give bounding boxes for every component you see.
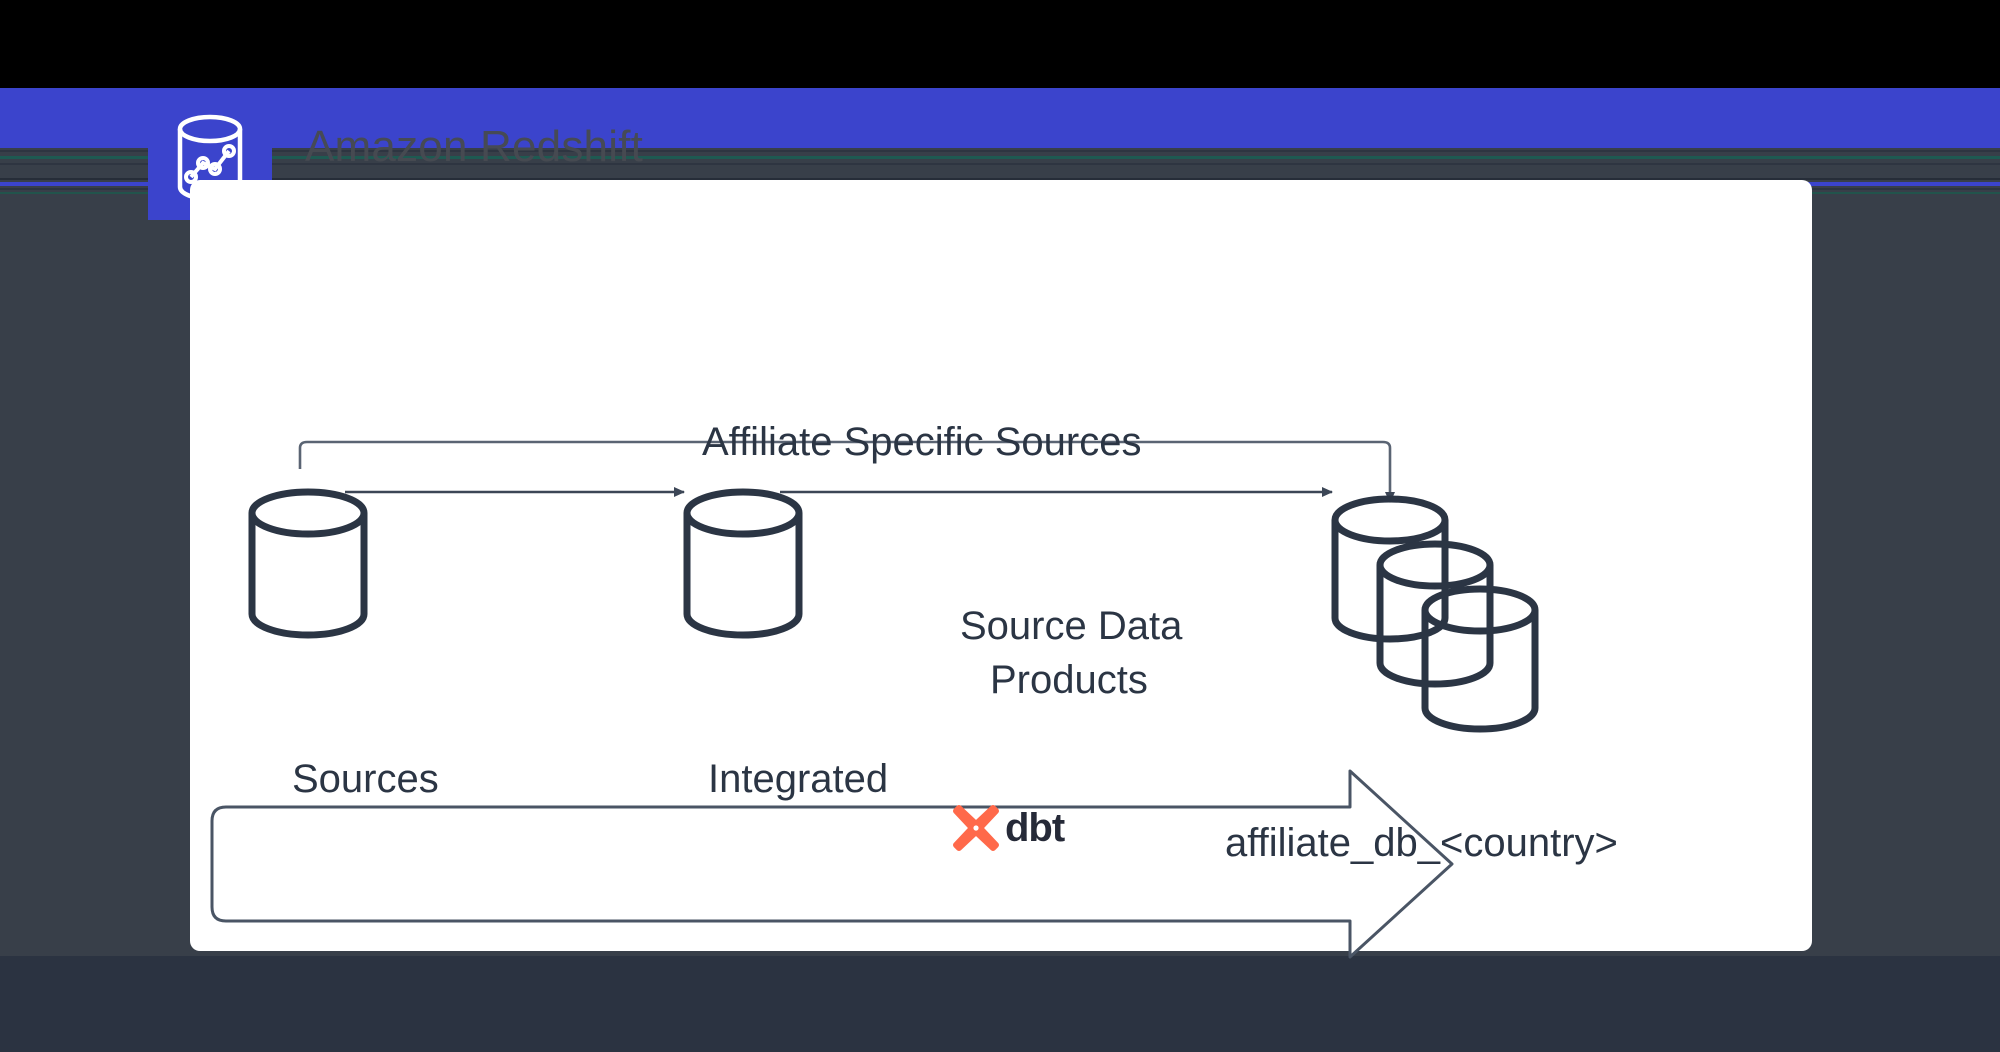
node-stacked-cylinders-affiliate — [1335, 499, 1535, 729]
divider-line-2 — [0, 163, 2000, 165]
node-cylinder-integrated — [687, 492, 799, 635]
screen-background: Amazon Redshift — [0, 0, 2000, 1052]
diagram-panel: Affiliate Specific Sources Sources Integ… — [190, 180, 1812, 951]
dbt-x-icon — [953, 805, 999, 851]
divider-line-teal — [0, 156, 2000, 159]
edge-label-source-data-line1: Source Data — [960, 604, 1182, 649]
dbt-logo: dbt — [953, 805, 1064, 851]
edge-label-affiliate-specific-sources: Affiliate Specific Sources — [702, 420, 1141, 465]
node-label-integrated: Integrated — [708, 757, 888, 802]
edge-label-source-data-line2: Products — [990, 658, 1148, 703]
dbt-wordmark: dbt — [1005, 808, 1064, 848]
cylinder-middle — [1380, 544, 1490, 684]
bottom-slate-band — [0, 956, 2000, 1052]
top-blue-band — [0, 88, 2000, 148]
node-label-sources: Sources — [292, 757, 439, 802]
node-label-affiliate-db: affiliate_db_<country> — [1225, 821, 1618, 866]
page-title: Amazon Redshift — [305, 122, 643, 172]
divider-line-1 — [0, 150, 2000, 152]
node-cylinder-sources — [252, 492, 364, 635]
